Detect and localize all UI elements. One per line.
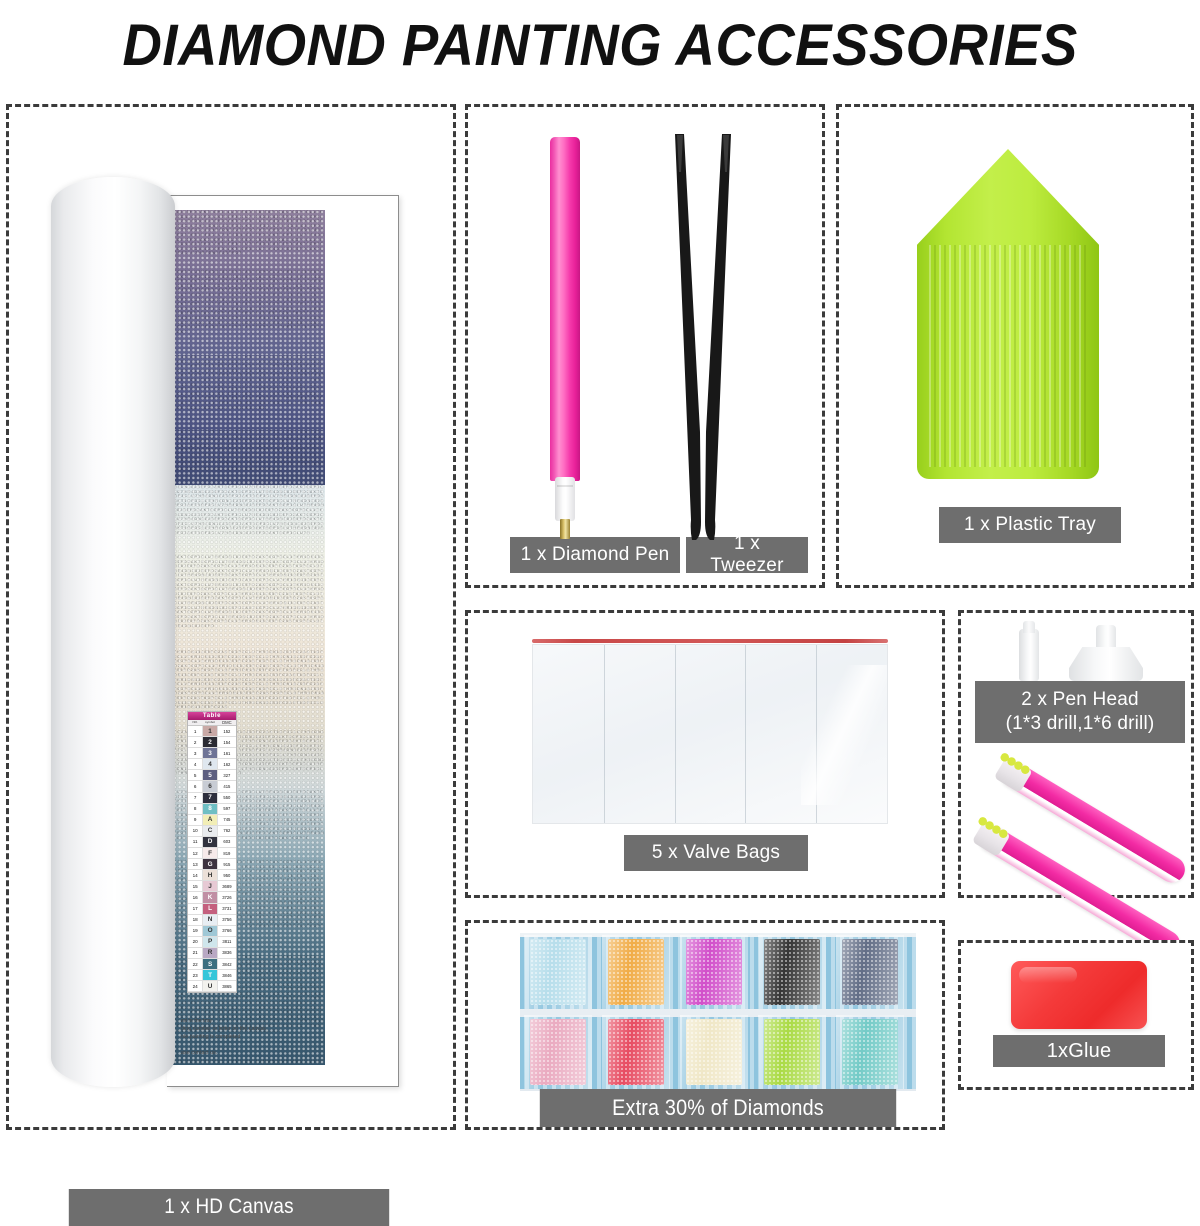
panel-hd-canvas: 18JS5FO2AKT6GP3CLU7HR4DN18JS5FO2AKT6GP3C… bbox=[6, 104, 456, 1130]
color-table-cell-symbol: R bbox=[202, 948, 217, 958]
color-table-cell-symbol: P bbox=[202, 937, 217, 947]
color-table-cell-symbol: H bbox=[202, 870, 217, 880]
canvas-note-line: ding number or letter on the canvas bbox=[181, 1025, 391, 1033]
canvas-print-dots bbox=[173, 1060, 325, 1065]
canvas-note-line: ase contact us. bbox=[181, 1049, 391, 1057]
color-table-cell-symbol: D bbox=[202, 837, 217, 847]
color-table-cell-dmc: 603 bbox=[218, 837, 236, 847]
color-table-cell-no: 7 bbox=[188, 793, 202, 803]
valve-bag-divider bbox=[675, 645, 676, 823]
color-table-row: 21R3836 bbox=[188, 948, 236, 959]
diamond-bag-plastic bbox=[758, 935, 826, 1009]
color-table-cell-dmc: 950 bbox=[218, 870, 236, 880]
color-table-cell-no: 24 bbox=[188, 981, 202, 991]
canvas-print-dots bbox=[173, 355, 325, 430]
canvas-note-line: ole painting is completed bbox=[181, 1033, 391, 1041]
color-table-cell-no: 22 bbox=[188, 959, 202, 969]
color-table-cell-dmc: 3811 bbox=[218, 937, 236, 947]
color-table-cell-symbol: 5 bbox=[202, 770, 217, 780]
color-table-cell-dmc: 152 bbox=[218, 726, 236, 736]
color-table-title: Table bbox=[188, 712, 236, 720]
color-table-cell-no: 8 bbox=[188, 804, 202, 814]
panel-plastic-tray: 1 x Plastic Tray bbox=[836, 104, 1194, 588]
diamond-bag bbox=[842, 1019, 898, 1085]
color-table-cell-no: 23 bbox=[188, 970, 202, 980]
panel-valve-bags: 5 x Valve Bags bbox=[465, 610, 945, 898]
color-table-cell-symbol: G bbox=[202, 859, 217, 869]
color-table-row: 17L3731 bbox=[188, 904, 236, 915]
page-title: DIAMOND PAINTING ACCESSORIES bbox=[0, 2, 1200, 88]
canvas-roll bbox=[51, 177, 175, 1087]
color-table-cell-symbol: L bbox=[202, 904, 217, 914]
diamond-bag bbox=[764, 1019, 820, 1085]
color-table-cell-dmc: 162 bbox=[218, 759, 236, 769]
color-table-row: 11152 bbox=[188, 726, 236, 737]
color-table-cell-no: 18 bbox=[188, 915, 202, 925]
color-table-cell-dmc: 3726 bbox=[218, 892, 236, 902]
color-table-cell-symbol: N bbox=[202, 915, 217, 925]
diamond-bag bbox=[608, 939, 664, 1005]
caption-glue: 1xGlue bbox=[993, 1035, 1165, 1067]
diamond-bag-plastic bbox=[758, 1015, 826, 1089]
valve-bag-divider bbox=[745, 645, 746, 823]
caption-hd-canvas: 1 x HD Canvas bbox=[69, 1189, 389, 1226]
color-table-cell-no: 10 bbox=[188, 826, 202, 836]
valve-bag-divider bbox=[604, 645, 605, 823]
color-table-cell-no: 9 bbox=[188, 815, 202, 825]
canvas-print-band: KT6GP3CLU7HR4DN18JS5FO2AKT6GP3CLU7HR4DN1… bbox=[173, 430, 325, 485]
diamond-bag bbox=[530, 939, 586, 1005]
color-table-cell-dmc: 597 bbox=[218, 804, 236, 814]
color-table-cell-dmc: 819 bbox=[218, 848, 236, 858]
canvas-print-band: DN18JS5FO2AKT6GP3CLU7HR4DN18JS5FO2AKT6GP… bbox=[173, 355, 325, 430]
canvas-print-dots bbox=[173, 485, 325, 555]
canvas-note-line bbox=[181, 1041, 391, 1049]
diamond-bag bbox=[530, 1019, 586, 1085]
canvas-print-dots bbox=[173, 430, 325, 485]
color-table-cell-dmc: 3836 bbox=[218, 948, 236, 958]
color-table-row: 55327 bbox=[188, 770, 236, 781]
canvas-print-band: 8JS5FO2AKT6GP3CLU7HR4DN18JS5FO2AKT6GP3CL… bbox=[173, 1060, 325, 1065]
diamond-bag bbox=[842, 939, 898, 1005]
color-table-cell-dmc: 3731 bbox=[218, 904, 236, 914]
color-table-cell-symbol: J bbox=[202, 881, 217, 891]
canvas-print-band: 18JS5FO2AKT6GP3CLU7HR4DN18JS5FO2AKT6GP3C… bbox=[173, 210, 325, 270]
color-table-cell-symbol: 8 bbox=[202, 804, 217, 814]
color-table-cell-dmc: 327 bbox=[218, 770, 236, 780]
valve-bags-group bbox=[532, 639, 888, 824]
color-table-cell-no: 2 bbox=[188, 737, 202, 747]
diamond-bag-plastic bbox=[836, 935, 904, 1009]
color-table-cell-dmc: 550 bbox=[218, 793, 236, 803]
color-table-row: 14H950 bbox=[188, 870, 236, 881]
color-table-row: 33161 bbox=[188, 748, 236, 759]
valve-bag-stack bbox=[532, 644, 888, 824]
color-table-cell-no: 13 bbox=[188, 859, 202, 869]
diamond-bag bbox=[686, 939, 742, 1005]
color-table-cell-no: 16 bbox=[188, 892, 202, 902]
plastic-tray bbox=[917, 149, 1099, 479]
color-table-row: 15J3689 bbox=[188, 881, 236, 892]
diamond-bag-plastic bbox=[836, 1015, 904, 1089]
color-table-header-symbol: symbol bbox=[202, 720, 217, 725]
diamond-bag bbox=[608, 1019, 664, 1085]
diamond-bag bbox=[764, 939, 820, 1005]
panel-pen-head: 2 x Pen Head (1*3 drill,1*6 drill) bbox=[958, 610, 1194, 898]
diamond-bag-plastic bbox=[680, 1015, 748, 1089]
color-table-cell-symbol: U bbox=[202, 981, 217, 991]
diamond-pen bbox=[550, 137, 580, 537]
color-table-row: 11D603 bbox=[188, 837, 236, 848]
color-table-cell-no: 17 bbox=[188, 904, 202, 914]
color-table-cell-no: 1 bbox=[188, 726, 202, 736]
canvas-note-line: nd in the tray bbox=[181, 1017, 391, 1025]
color-table-cell-no: 20 bbox=[188, 937, 202, 947]
color-table-header-no: NO. bbox=[188, 720, 202, 725]
color-table-cell-dmc: 161 bbox=[218, 748, 236, 758]
diamond-bag bbox=[686, 1019, 742, 1085]
color-table-cell-symbol: 3 bbox=[202, 748, 217, 758]
color-table-row: 23T3846 bbox=[188, 970, 236, 981]
diamond-bag-plastic bbox=[524, 935, 592, 1009]
color-table-row: 44162 bbox=[188, 759, 236, 770]
color-table-row: 19O3766 bbox=[188, 926, 236, 937]
panel-pen-tweezer: 1 x Diamond Pen 1 x Tweezer bbox=[465, 104, 825, 588]
color-table-cell-no: 14 bbox=[188, 870, 202, 880]
canvas-print-band: 2AKT6GP3CLU7HR4DN18JS5FO2AKT6GP3CLU7HR4D… bbox=[173, 555, 325, 650]
color-table-cell-no: 4 bbox=[188, 759, 202, 769]
color-table-row: 22154 bbox=[188, 737, 236, 748]
color-table-cell-dmc: 3756 bbox=[218, 915, 236, 925]
panel-glue: 1xGlue bbox=[958, 940, 1194, 1090]
color-table-cell-no: 5 bbox=[188, 770, 202, 780]
color-table-cell-symbol: 4 bbox=[202, 759, 217, 769]
panel-extra-diamonds: Extra 30% of Diamonds bbox=[465, 920, 945, 1130]
color-table-row: 10C762 bbox=[188, 826, 236, 837]
color-table-cell-no: 12 bbox=[188, 848, 202, 858]
color-table-cell-no: 19 bbox=[188, 926, 202, 936]
color-table-row: 9A745 bbox=[188, 815, 236, 826]
pen-collar bbox=[555, 477, 575, 521]
color-table-body: 1115222154331614416255327664157755088597… bbox=[188, 726, 236, 992]
caption-diamond-pen: 1 x Diamond Pen bbox=[510, 537, 680, 573]
canvas-print-dots bbox=[173, 555, 325, 650]
color-table-cell-symbol: 2 bbox=[202, 737, 217, 747]
color-table-row: 16K3726 bbox=[188, 892, 236, 903]
caption-valve-bags: 5 x Valve Bags bbox=[624, 835, 808, 871]
color-table-row: 66415 bbox=[188, 781, 236, 792]
color-table-cell-dmc: 3865 bbox=[218, 981, 236, 991]
color-table-cell-dmc: 762 bbox=[218, 826, 236, 836]
diamond-bag-plastic bbox=[524, 1015, 592, 1089]
color-table-row: 77550 bbox=[188, 793, 236, 804]
color-table-cell-no: 6 bbox=[188, 781, 202, 791]
color-table-cell-dmc: 915 bbox=[218, 859, 236, 869]
color-table-cell-symbol: A bbox=[202, 815, 217, 825]
pen-head-1x6-drill bbox=[1069, 625, 1143, 681]
canvas-print-band: R4DN18JS5FO2AKT6GP3CLU7HR4DN18JS5FO2AKT6… bbox=[173, 485, 325, 555]
tweezer bbox=[668, 132, 738, 544]
color-table-row: 13G915 bbox=[188, 859, 236, 870]
color-table-cell-symbol: O bbox=[202, 926, 217, 936]
color-table-cell-symbol: 1 bbox=[202, 726, 217, 736]
caption-pen-head: 2 x Pen Head (1*3 drill,1*6 drill) bbox=[975, 681, 1185, 743]
color-table-row: 24U3865 bbox=[188, 981, 236, 992]
caption-extra-diamonds: Extra 30% of Diamonds bbox=[540, 1089, 896, 1127]
color-table-cell-symbol: T bbox=[202, 970, 217, 980]
dmc-color-table: Table NO. symbol DMC 1115222154331614416… bbox=[187, 711, 237, 993]
diamond-bag-plastic bbox=[602, 1015, 670, 1089]
color-table-cell-symbol: K bbox=[202, 892, 217, 902]
color-table-cell-dmc: 415 bbox=[218, 781, 236, 791]
canvas-print-dots bbox=[173, 210, 325, 270]
color-table-row: 18N3756 bbox=[188, 915, 236, 926]
color-table-row: 20P3811 bbox=[188, 937, 236, 948]
color-table-cell-dmc: 154 bbox=[218, 737, 236, 747]
color-table-row: 22S3842 bbox=[188, 959, 236, 970]
color-table-cell-dmc: 3689 bbox=[218, 881, 236, 891]
pen-head-bar bbox=[1069, 647, 1143, 681]
color-table-cell-dmc: 3842 bbox=[218, 959, 236, 969]
canvas-instruction-note: nd in the trayding number or letter on t… bbox=[181, 1017, 391, 1057]
canvas-print-band: 6GP3CLU7HR4DN18JS5FO2AKT6GP3CLU7HR4DN18J… bbox=[173, 270, 325, 355]
caption-plastic-tray: 1 x Plastic Tray bbox=[939, 507, 1121, 543]
pen-tip bbox=[560, 519, 570, 539]
diamond-bag-plastic bbox=[602, 935, 670, 1009]
glue-block bbox=[1011, 961, 1147, 1029]
color-table-cell-dmc: 745 bbox=[218, 815, 236, 825]
pen-body bbox=[550, 137, 580, 481]
color-table-header-dmc: DMC bbox=[218, 720, 236, 725]
page-title-text: DIAMOND PAINTING ACCESSORIES bbox=[122, 12, 1077, 79]
color-table-cell-no: 15 bbox=[188, 881, 202, 891]
color-table-cell-no: 11 bbox=[188, 837, 202, 847]
tweezer-icon bbox=[668, 132, 738, 544]
diamond-bag-plastic bbox=[680, 935, 748, 1009]
color-table-cell-no: 3 bbox=[188, 748, 202, 758]
canvas-print-dots bbox=[173, 270, 325, 355]
color-table-row: 12F819 bbox=[188, 848, 236, 859]
color-table-cell-no: 21 bbox=[188, 948, 202, 958]
diamond-bags-strip bbox=[520, 933, 916, 1091]
color-table-cell-dmc: 3846 bbox=[218, 970, 236, 980]
color-table-cell-symbol: F bbox=[202, 848, 217, 858]
valve-bag-gloss bbox=[801, 665, 887, 805]
valve-bag-zip-seal bbox=[532, 639, 888, 643]
tray-ridges bbox=[929, 245, 1087, 467]
color-table-cell-symbol: C bbox=[202, 826, 217, 836]
pen-head-1x3-drill bbox=[1019, 629, 1039, 681]
color-table-cell-dmc: 3766 bbox=[218, 926, 236, 936]
color-table-cell-symbol: 6 bbox=[202, 781, 217, 791]
color-table-cell-symbol: 7 bbox=[202, 793, 217, 803]
color-table-row: 88597 bbox=[188, 804, 236, 815]
color-table-cell-symbol: S bbox=[202, 959, 217, 969]
